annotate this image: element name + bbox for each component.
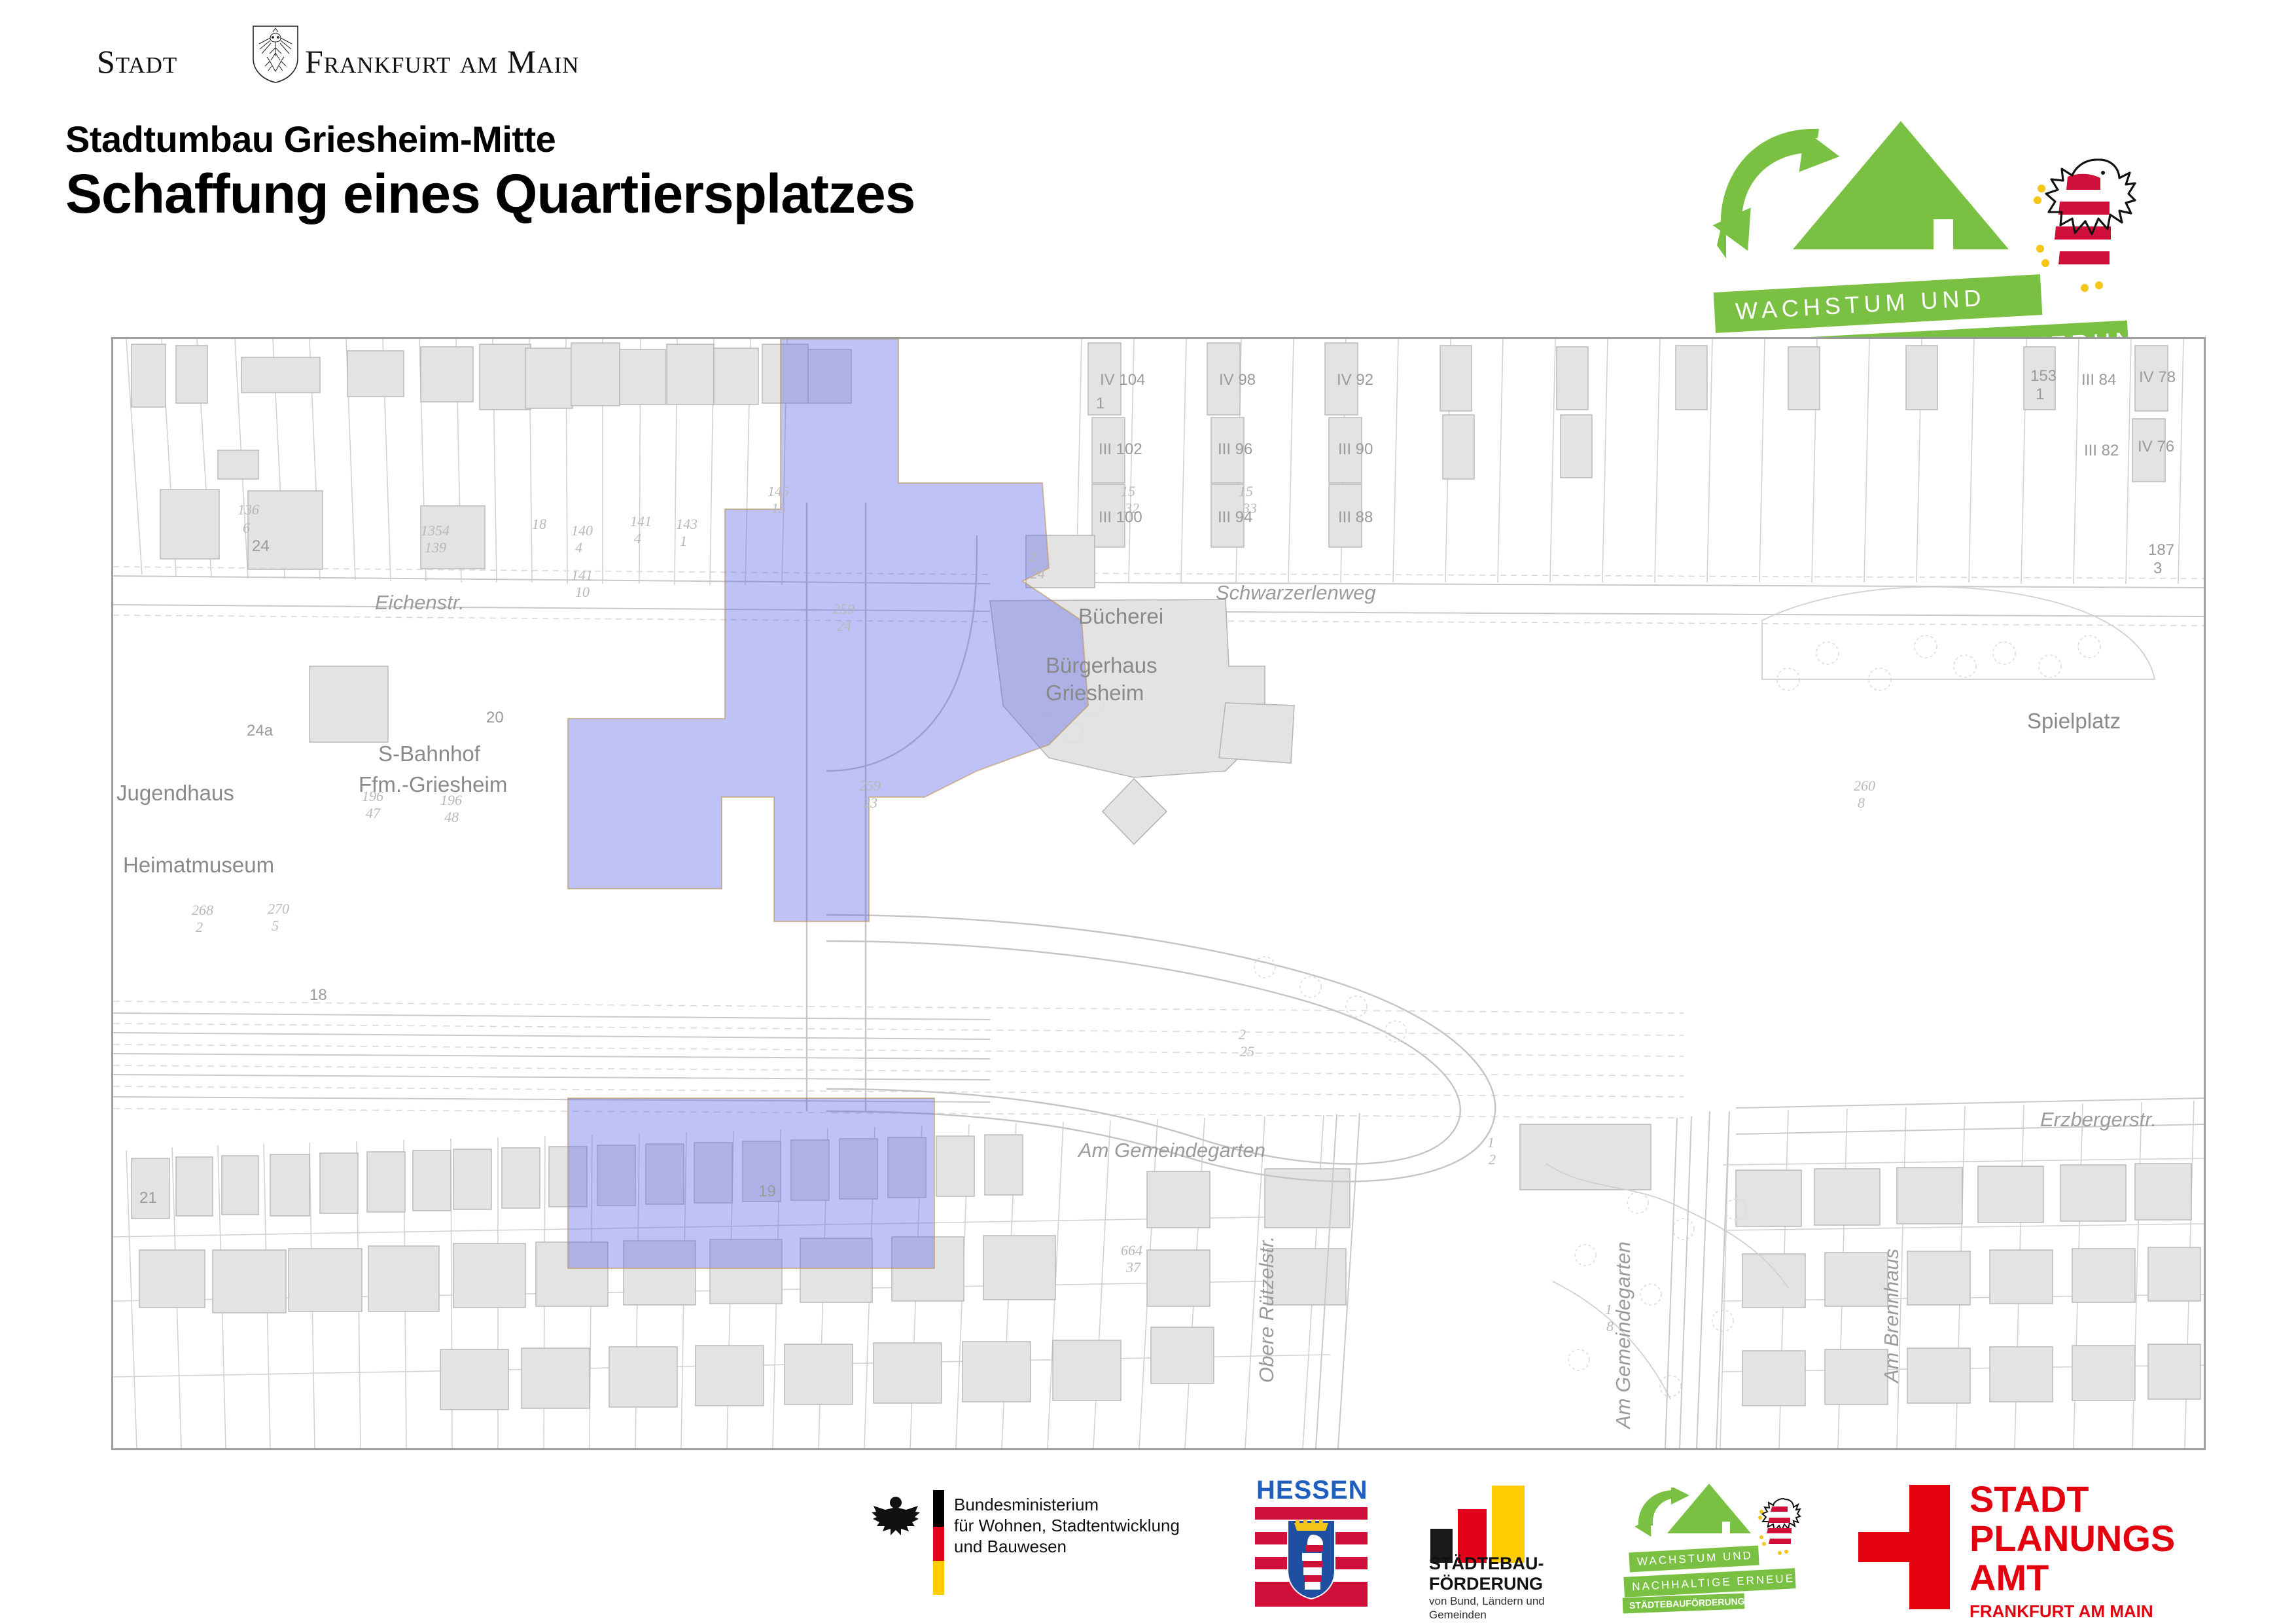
svg-text:268: 268 — [192, 902, 213, 918]
bmwsb-logo: Bundesministerium für Wohnen, Stadtentwi… — [870, 1476, 1210, 1623]
place-label-heimatmuseum: Heimatmuseum — [123, 853, 274, 878]
svg-text:259: 259 — [859, 777, 881, 794]
city-logo-word-stadt: Stadt — [97, 43, 177, 80]
spa-red-block-icon — [1858, 1485, 1950, 1609]
street-label-schwarzerlenweg: Schwarzerlenweg — [1216, 581, 1376, 605]
place-label-buecherei: Bücherei — [1078, 604, 1163, 629]
street-label-eichenstr: Eichenstr. — [375, 591, 465, 615]
frankfurt-eagle-crest-icon — [251, 24, 300, 84]
street-label-obere-ruetzelstr: Obere Rützelstr. — [1255, 1236, 1279, 1383]
svg-text:20: 20 — [486, 709, 504, 726]
svg-text:1: 1 — [680, 533, 687, 549]
place-label-jugendhaus: Jugendhaus — [116, 781, 234, 806]
svg-text:24: 24 — [837, 618, 851, 634]
staedtebau-sub-1: von Bund, Ländern und — [1429, 1594, 1545, 1608]
place-label-buergerhaus: Bürgerhaus — [1046, 653, 1157, 678]
svg-text:47: 47 — [366, 805, 381, 821]
svg-text:260: 260 — [1854, 777, 1875, 794]
svg-text:1: 1 — [2036, 385, 2044, 403]
hessen-flag-lion-icon — [1255, 1507, 1368, 1607]
svg-text:23: 23 — [863, 794, 877, 811]
program-logo-footer: WACHSTUM UND NACHHALTIGE ERNEUERUNG STÄD… — [1629, 1476, 1839, 1623]
svg-text:IV 98: IV 98 — [1219, 371, 1256, 389]
svg-text:4: 4 — [575, 539, 582, 556]
svg-text:IV 104: IV 104 — [1100, 371, 1145, 389]
svg-text:III 88: III 88 — [1338, 508, 1373, 526]
staedtebau-wordmark: STÄDTEBAU- FÖRDERUNG — [1429, 1554, 1544, 1594]
street-label-am-gemeindegarten: Am Gemeindegarten — [1078, 1139, 1265, 1162]
street-label-am-gemeindegarten-vert: Am Gemeindegarten — [1612, 1241, 1635, 1429]
svg-text:25: 25 — [1240, 1043, 1254, 1060]
spa-line-1: STADT — [1969, 1480, 2175, 1519]
svg-text:21: 21 — [139, 1189, 157, 1207]
hessen-lion-icon — [2022, 151, 2146, 301]
place-label-ffm-griesheim: Ffm.-Griesheim — [359, 772, 507, 797]
staedtebau-line-2: FÖRDERUNG — [1429, 1574, 1544, 1594]
svg-text:10: 10 — [575, 584, 590, 600]
svg-text:1: 1 — [1487, 1134, 1494, 1150]
svg-text:III 102: III 102 — [1099, 440, 1142, 458]
staedtebaufoerderung-logo: STÄDTEBAU- FÖRDERUNG von Bund, Ländern u… — [1426, 1476, 1597, 1623]
svg-text:141: 141 — [571, 567, 593, 583]
svg-text:270: 270 — [268, 901, 289, 917]
street-label-erzbergerstr: Erzbergerstr. — [2040, 1108, 2157, 1132]
bmwsb-wordmark: Bundesministerium für Wohnen, Stadtentwi… — [954, 1494, 1180, 1557]
svg-text:145: 145 — [768, 483, 789, 499]
place-label-spielplatz: Spielplatz — [2027, 709, 2121, 734]
svg-text:136: 136 — [238, 501, 259, 518]
svg-text:III 82: III 82 — [2084, 442, 2119, 459]
svg-text:4: 4 — [634, 530, 641, 546]
staedtebau-line-1: STÄDTEBAU- — [1429, 1554, 1544, 1574]
svg-text:153: 153 — [2030, 367, 2057, 385]
svg-text:IV 78: IV 78 — [2139, 368, 2176, 386]
hessen-wordmark: HESSEN — [1256, 1476, 1368, 1505]
svg-text:1: 1 — [1096, 395, 1104, 412]
svg-text:5: 5 — [272, 918, 279, 934]
svg-text:18: 18 — [532, 516, 546, 532]
hessen-lion-icon — [1754, 1495, 1805, 1558]
svg-text:37: 37 — [1125, 1259, 1141, 1275]
program-footer-band-2: NACHHALTIGE ERNEUERUNG — [1623, 1568, 1795, 1597]
flag-stripe-red — [933, 1527, 944, 1561]
spa-line-2: PLANUNGS — [1969, 1519, 2175, 1558]
svg-text:6: 6 — [243, 520, 250, 536]
staedtebau-subline: von Bund, Ländern und Gemeinden — [1429, 1594, 1545, 1622]
svg-text:8: 8 — [1858, 794, 1865, 811]
spa-subline: FRANKFURT AM MAIN — [1969, 1601, 2153, 1622]
bundesadler-icon — [870, 1494, 921, 1550]
svg-text:15: 15 — [1239, 483, 1253, 499]
street-label-am-brennhaus: Am Brennhaus — [1880, 1249, 1903, 1383]
bmwsb-line-3: und Bauwesen — [954, 1536, 1180, 1557]
svg-text:III 96: III 96 — [1218, 440, 1252, 458]
svg-text:IV 92: IV 92 — [1337, 371, 1373, 389]
svg-text:1354: 1354 — [421, 522, 450, 539]
bmwsb-line-2: für Wohnen, Stadtentwicklung — [954, 1515, 1180, 1536]
svg-text:III 90: III 90 — [1338, 440, 1373, 458]
svg-text:139: 139 — [425, 539, 446, 556]
svg-text:2: 2 — [1029, 548, 1036, 565]
city-logo: Stadt Frankfurt am Main — [97, 36, 516, 82]
svg-text:140: 140 — [571, 522, 593, 539]
svg-text:18: 18 — [309, 986, 327, 1004]
spa-wordmark: STADT PLANUNGS AMT — [1969, 1480, 2175, 1597]
hessen-shield-icon — [1286, 1519, 1336, 1600]
svg-text:15: 15 — [771, 500, 786, 516]
house-gold-icon — [1492, 1486, 1525, 1563]
svg-text:2: 2 — [1239, 1026, 1246, 1043]
svg-text:19: 19 — [758, 1183, 776, 1200]
svg-text:IV 76: IV 76 — [2138, 438, 2174, 455]
svg-text:24: 24 — [252, 537, 270, 555]
svg-text:III 94: III 94 — [1218, 508, 1252, 526]
spa-line-3: AMT — [1969, 1558, 2175, 1597]
page-title: Schaffung eines Quartiersplatzes — [65, 162, 915, 226]
svg-text:2: 2 — [196, 919, 203, 935]
project-subtitle: Stadtumbau Griesheim-Mitte — [65, 118, 556, 160]
svg-text:III 100: III 100 — [1099, 508, 1142, 526]
svg-text:15: 15 — [1121, 483, 1135, 499]
stadtplanungsamt-logo: STADT PLANUNGS AMT FRANKFURT AM MAIN — [1858, 1476, 2199, 1623]
bmwsb-line-1: Bundesministerium — [954, 1494, 1180, 1515]
svg-text:3: 3 — [2153, 560, 2162, 577]
staedtebau-sub-2: Gemeinden — [1429, 1608, 1545, 1622]
svg-text:24: 24 — [1031, 565, 1045, 582]
svg-text:187: 187 — [2148, 541, 2174, 559]
place-label-griesheim: Griesheim — [1046, 681, 1144, 705]
flag-stripe-black — [933, 1490, 944, 1527]
city-logo-word-frankfurt: Frankfurt am Main — [305, 43, 579, 80]
place-label-s-bahnhof: S-Bahnhof — [378, 741, 480, 766]
svg-text:143: 143 — [676, 516, 698, 532]
svg-text:III 84: III 84 — [2081, 371, 2116, 389]
svg-text:141: 141 — [630, 513, 652, 529]
svg-text:48: 48 — [444, 809, 459, 825]
svg-text:259: 259 — [833, 601, 855, 617]
footer-logos: Bundesministerium für Wohnen, Stadtentwi… — [0, 1476, 2296, 1623]
svg-text:2: 2 — [1489, 1151, 1496, 1168]
flag-stripe-gold — [933, 1561, 944, 1595]
cadastral-map[interactable]: 1366 1354139 18 1404 14110 1414 1431 145… — [111, 337, 2206, 1450]
svg-text:24a: 24a — [247, 722, 274, 740]
svg-text:664: 664 — [1121, 1242, 1142, 1258]
hessen-logo: HESSEN — [1250, 1476, 1381, 1623]
